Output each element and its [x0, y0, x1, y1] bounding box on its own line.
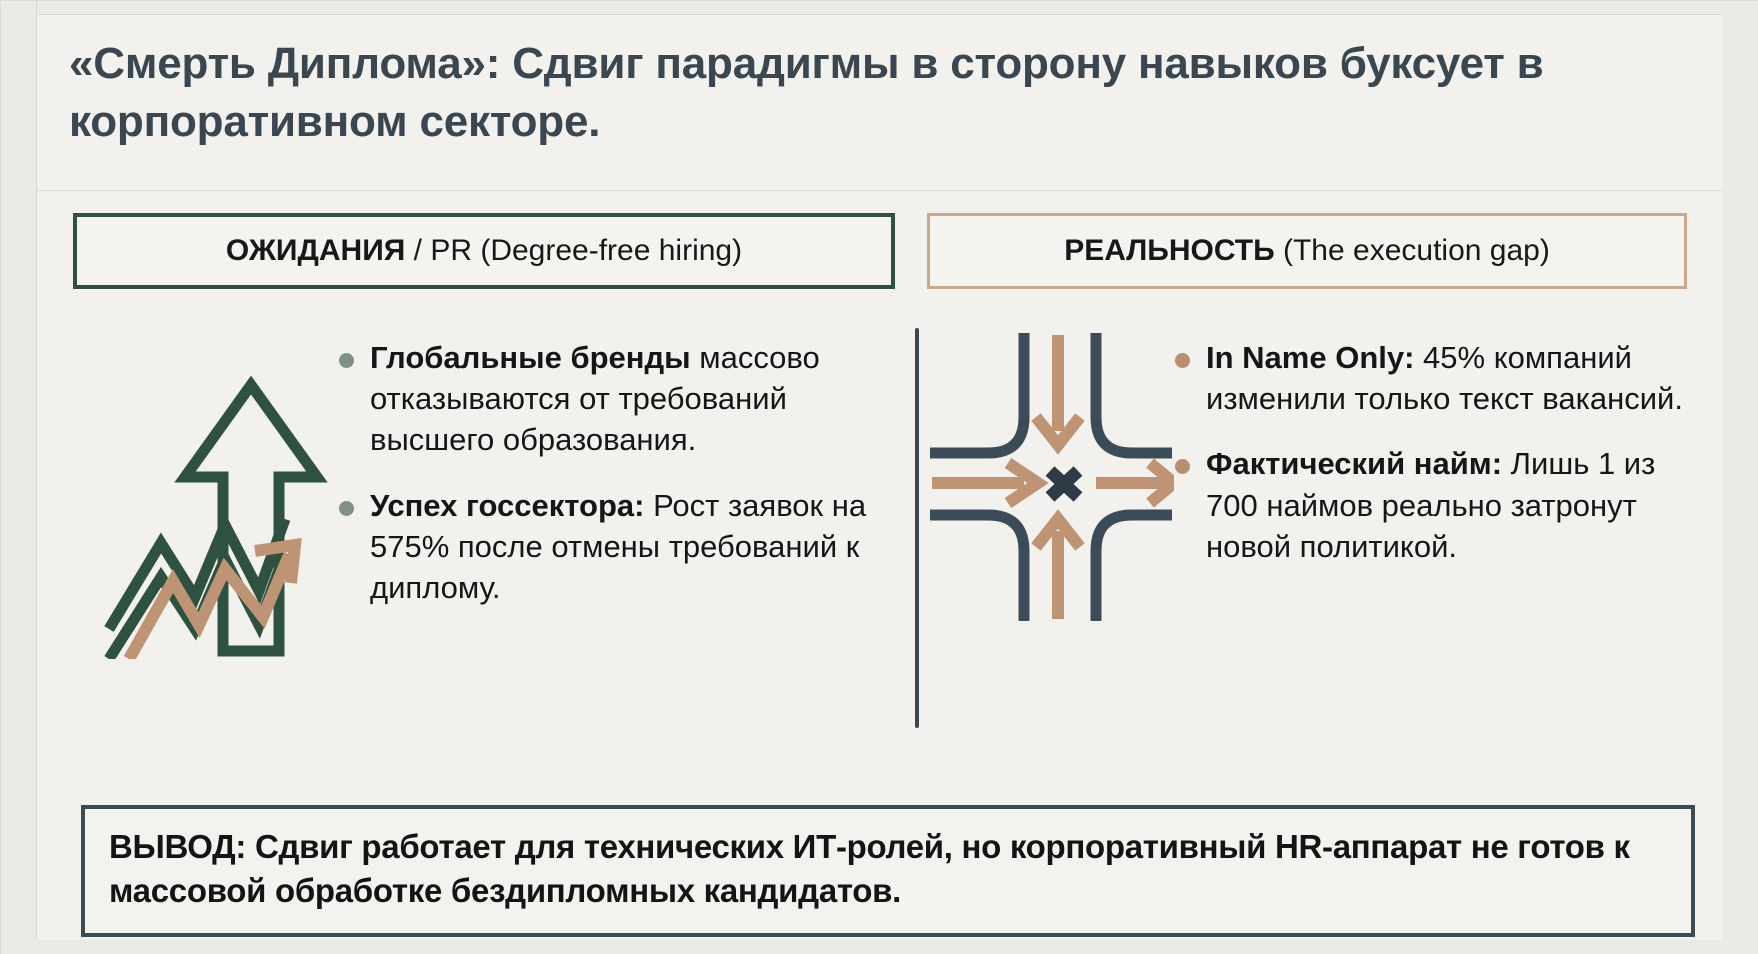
- column-header-reality-text: РЕАЛЬНОСТЬ (The execution gap): [1064, 234, 1550, 268]
- bullet-lead: Успех госсектора:: [370, 488, 644, 523]
- conclusion-box: ВЫВОД: Сдвиг работает для технических ИТ…: [81, 805, 1695, 937]
- conclusion-text: ВЫВОД: Сдвиг работает для технических ИТ…: [109, 825, 1667, 913]
- bullet-lead: Фактический найм:: [1206, 446, 1502, 481]
- bullet-text: Фактический найм: Лишь 1 из 700 наймов р…: [1206, 443, 1697, 567]
- column-reality: In Name Only: 45% компаний изменили толь…: [927, 315, 1697, 630]
- conclusion-lead: ВЫВОД: [109, 828, 235, 865]
- reality-bullet-list: In Name Only: 45% компаний изменили толь…: [1175, 315, 1697, 567]
- bullet-text: Глобальные бренды массово отказываются о…: [370, 337, 899, 461]
- header-right-bold: РЕАЛЬНОСТЬ: [1064, 234, 1274, 267]
- bullet-dot-icon: [339, 353, 354, 368]
- page-title: «Смерть Диплома»: Сдвиг парадигмы в стор…: [69, 35, 1569, 151]
- title-divider: [37, 190, 1723, 191]
- header-left-bold: ОЖИДАНИЯ: [226, 234, 405, 267]
- list-item: Успех госсектора: Рост заявок на 575% по…: [339, 485, 899, 609]
- list-item: Фактический найм: Лишь 1 из 700 наймов р…: [1175, 443, 1697, 567]
- top-edge-rule: [0, 0, 1758, 1]
- infographic-card: «Смерть Диплома»: Сдвиг парадигмы в стор…: [36, 14, 1722, 940]
- bullet-text: Успех госсектора: Рост заявок на 575% по…: [370, 485, 899, 609]
- bullet-dot-icon: [1175, 459, 1190, 474]
- column-expectations: Глобальные бренды массово отказываются о…: [89, 315, 899, 664]
- column-header-reality: РЕАЛЬНОСТЬ (The execution gap): [927, 213, 1687, 289]
- left-edge-rule: [0, 0, 1, 954]
- bullet-lead: In Name Only:: [1206, 340, 1414, 375]
- list-item: Глобальные бренды массово отказываются о…: [339, 337, 899, 461]
- list-item: In Name Only: 45% компаний изменили толь…: [1175, 337, 1697, 419]
- bullet-lead: Глобальные бренды: [370, 340, 691, 375]
- crossroads-blocked-icon-slot: [927, 315, 1175, 630]
- header-right-rest: (The execution gap): [1275, 234, 1550, 267]
- crossroads-blocked-icon: [928, 325, 1174, 630]
- bullet-dot-icon: [1175, 353, 1190, 368]
- growth-arrow-icon-slot: [89, 315, 339, 664]
- infographic-canvas: «Смерть Диплома»: Сдвиг парадигмы в стор…: [0, 0, 1758, 954]
- expectations-bullet-list: Глобальные бренды массово отказываются о…: [339, 315, 899, 608]
- bullet-text: In Name Only: 45% компаний изменили толь…: [1206, 337, 1697, 419]
- conclusion-rest: : Сдвиг работает для технических ИТ-роле…: [109, 828, 1630, 909]
- column-header-expectations: ОЖИДАНИЯ / PR (Degree-free hiring): [73, 213, 895, 289]
- growth-arrow-icon: [99, 329, 329, 664]
- title-zone: «Смерть Диплома»: Сдвиг парадигмы в стор…: [37, 35, 1723, 151]
- bullet-dot-icon: [339, 501, 354, 516]
- column-header-expectations-text: ОЖИДАНИЯ / PR (Degree-free hiring): [226, 234, 742, 268]
- left-tick-rule: [36, 0, 37, 14]
- column-divider: [915, 328, 919, 728]
- header-left-rest: / PR (Degree-free hiring): [405, 234, 742, 267]
